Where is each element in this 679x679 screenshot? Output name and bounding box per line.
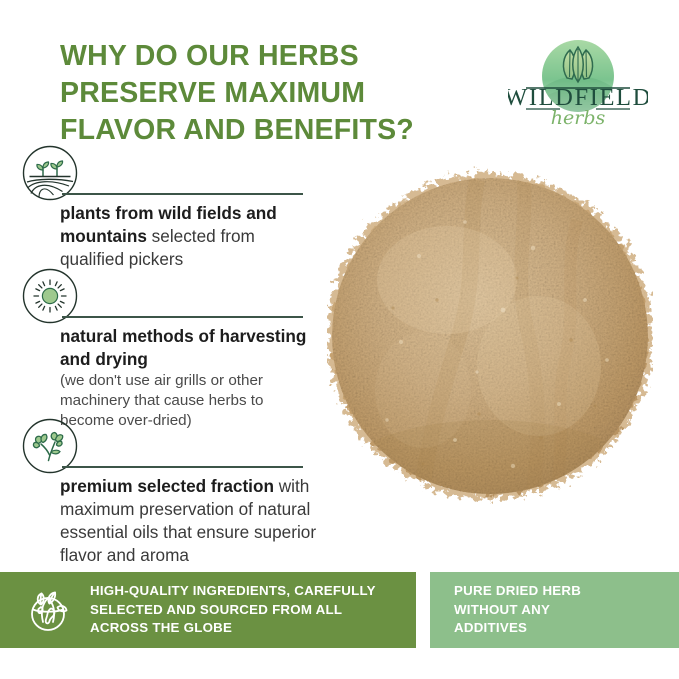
feature-divider-3 (62, 466, 303, 468)
feature-text-1: plants from wild fields and mountains se… (60, 202, 315, 271)
page-title: WHY DO OUR HERBS PRESERVE MAXIMUM FLAVOR… (60, 38, 490, 149)
banner-right-line-2: WITHOUT ANY (454, 601, 581, 620)
logo-script-text: herbs (551, 107, 606, 129)
feature-bold-3: premium selected fraction (60, 476, 274, 496)
feature-text-3: premium selected fraction with maximum p… (60, 475, 350, 567)
banner-right-line-3: ADDITIVES (454, 619, 581, 638)
banner-right-text: PURE DRIED HERB WITHOUT ANY ADDITIVES (454, 582, 581, 639)
banner-high-quality-ingredients: HIGH-QUALITY INGREDIENTS, CAREFULLY SELE… (0, 572, 416, 648)
feature-divider-1 (62, 193, 303, 195)
banner-left-line-3: ACROSS THE GLOBE (90, 619, 376, 638)
banner-left-line-2: SELECTED AND SOURCED FROM ALL (90, 601, 376, 620)
headline-line-1: WHY DO OUR HERBS (60, 38, 490, 75)
banner-left-text: HIGH-QUALITY INGREDIENTS, CAREFULLY SELE… (90, 582, 376, 639)
feature-note-2: (we don't use air grills or other machin… (60, 371, 318, 432)
banner-right-line-1: PURE DRIED HERB (454, 582, 581, 601)
banner-left-line-1: HIGH-QUALITY INGREDIENTS, CAREFULLY (90, 582, 376, 601)
powder-texture (332, 174, 648, 516)
product-image-herb-powder (327, 160, 653, 516)
infographic-page: WHY DO OUR HERBS PRESERVE MAXIMUM FLAVOR… (0, 0, 679, 679)
headline-line-2: PRESERVE MAXIMUM (60, 75, 490, 112)
globe-leaf-icon (24, 584, 76, 636)
brand-logo: WILDFIELD herbs (508, 30, 648, 132)
feature-text-2: natural methods of harvesting and drying… (60, 325, 318, 432)
feature-divider-2 (62, 316, 303, 318)
feature-bold-2: natural methods of harvesting and drying (60, 326, 306, 369)
headline-line-3: FLAVOR AND BENEFITS? (60, 112, 490, 149)
banner-pure-dried-herb: PURE DRIED HERB WITHOUT ANY ADDITIVES (430, 572, 679, 648)
